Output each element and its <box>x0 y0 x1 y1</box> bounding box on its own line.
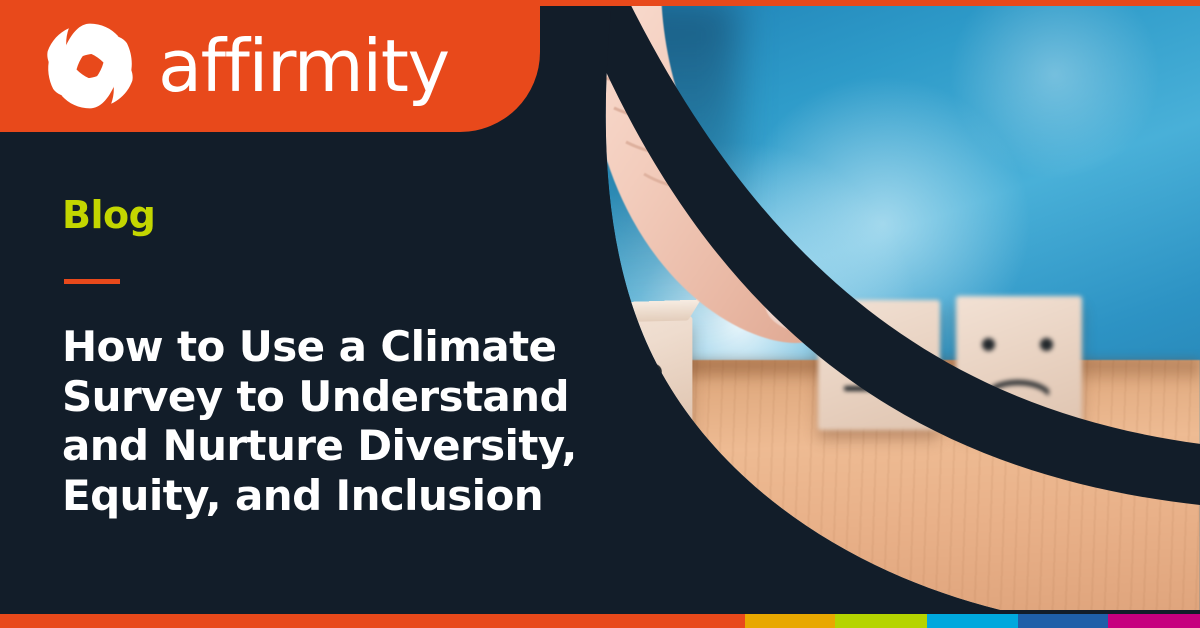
brand-color-strip <box>0 614 1200 628</box>
page-title: How to Use a Climate Survey to Understan… <box>62 322 592 520</box>
blog-social-card: affirmity Blog How to Use a Climate Surv… <box>0 0 1200 628</box>
content-type-label: Blog <box>62 196 592 234</box>
strip-magenta <box>1108 614 1200 628</box>
strip-cyan <box>927 614 1018 628</box>
strip-orange <box>0 614 745 628</box>
strip-gold <box>745 614 835 628</box>
aperture-icon <box>44 20 136 112</box>
logo-banner[interactable]: affirmity <box>0 0 540 132</box>
text-column: Blog How to Use a Climate Survey to Unde… <box>62 196 592 520</box>
strip-blue <box>1018 614 1108 628</box>
top-orange-rule <box>0 0 1200 6</box>
brand-wordmark: affirmity <box>158 30 449 102</box>
orange-divider <box>64 279 120 284</box>
strip-lime <box>835 614 927 628</box>
